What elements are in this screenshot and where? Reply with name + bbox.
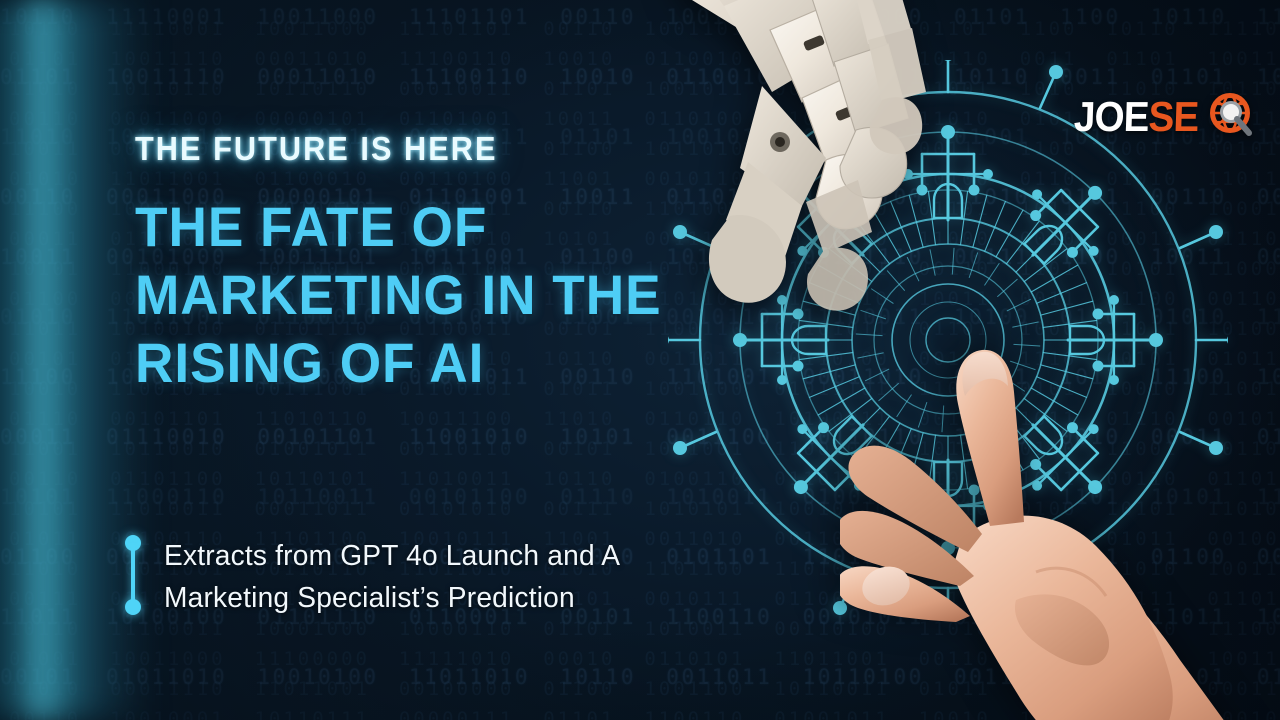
headline-block: THE FUTURE IS HERE THE FATE OF MARKETING… (135, 132, 735, 397)
page-title: THE FATE OF MARKETING IN THE RISING OF A… (135, 193, 705, 397)
light-streak-core (18, 0, 64, 720)
connector-dot-bottom (125, 599, 141, 615)
headline-line-2: MARKETING IN THE (135, 261, 705, 329)
logo-text-primary: JOE (1073, 93, 1149, 140)
logo-wordmark: JOESE (1073, 96, 1199, 138)
joeseo-logo[interactable]: JOESE (1074, 88, 1258, 146)
eyebrow-text: THE FUTURE IS HERE (135, 132, 693, 165)
headline-line-1: THE FATE OF (135, 193, 705, 261)
subtitle-line-1: Extracts from GPT 4o Launch and A (164, 535, 620, 577)
node-line-connector (124, 535, 142, 615)
subtitle-line-2: Marketing Specialist’s Prediction (164, 577, 620, 619)
connector-bar (131, 543, 135, 607)
subtitle-block: Extracts from GPT 4o Launch and A Market… (124, 535, 634, 619)
headline-line-3: RISING OF AI (135, 329, 705, 397)
logo-text-accent: SE (1148, 93, 1199, 140)
ai-marketing-banner: 10110 11110001 10011000 11101101 00110 1… (0, 0, 1280, 720)
subtitle-text: Extracts from GPT 4o Launch and A Market… (164, 535, 620, 619)
globe-magnifier-icon (1206, 91, 1258, 143)
human-hand-image (840, 300, 1280, 720)
